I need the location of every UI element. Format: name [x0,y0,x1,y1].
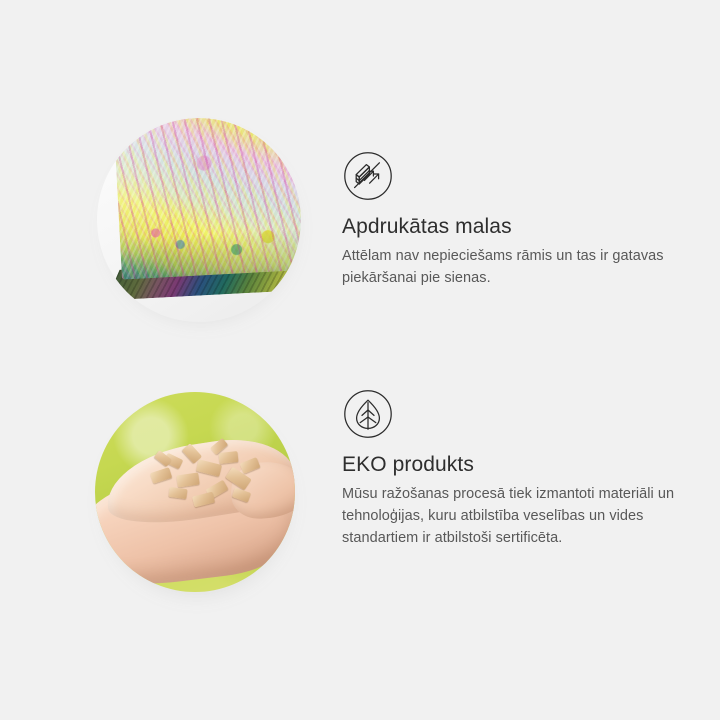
feature-description: Mūsu ražošanas procesā tiek izmantoti ma… [342,483,694,549]
feature-text-eko-product: EKO produkts Mūsu ražošanas procesā tiek… [342,388,694,549]
feature-title: EKO produkts [342,452,694,477]
feature-description: Attēlam nav nepieciešams rāmis un tas ir… [342,245,684,289]
feature-highlights-page: Apdrukātas malas Attēlam nav nepieciešam… [0,0,720,720]
feature-title: Apdrukātas malas [342,214,684,239]
feature-text-printed-edges: Apdrukātas malas Attēlam nav nepieciešam… [342,150,684,289]
canvas-printed-face [114,118,301,280]
feature-block-printed-edges: Apdrukātas malas Attēlam nav nepieciešam… [0,0,720,360]
canvas-print-corner-photo [97,118,301,322]
wood-chips-pile [147,440,269,514]
feature-block-eko-product: EKO produkts Mūsu ražošanas procesā tiek… [0,360,720,720]
canvas-block [114,118,301,322]
leaf-icon [342,388,394,440]
printed-edges-icon [342,150,394,202]
photo-clip [97,118,301,322]
hands-holding-wood-chips-photo [95,392,295,592]
